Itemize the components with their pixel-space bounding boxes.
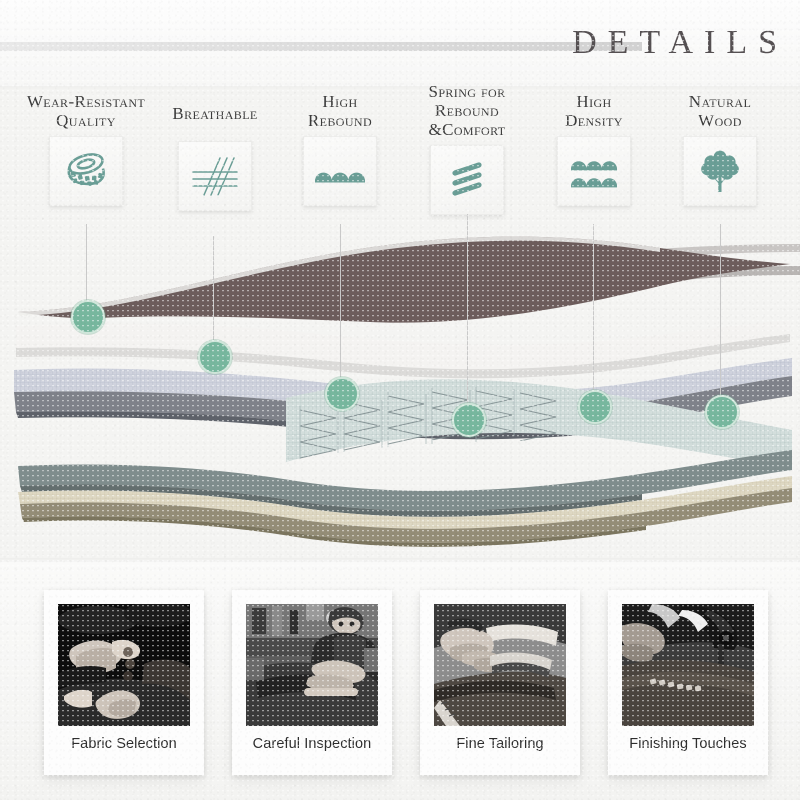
feature-label: High Density: [524, 92, 664, 130]
foam-arcs-icon: [314, 158, 366, 184]
process-card-fine-tailoring[interactable]: Fine Tailoring: [420, 590, 580, 775]
process-card-row: Fabric Selection: [0, 560, 800, 800]
callout-dot-1[interactable]: [71, 300, 105, 334]
feature-label: Spring for Rebound &Comfort: [397, 82, 537, 139]
feature-item-natural-wood[interactable]: Natural Wood: [650, 92, 790, 206]
feature-item-spring-rebound-comfort[interactable]: Spring for Rebound &Comfort: [397, 82, 537, 215]
callout-dot-2[interactable]: [198, 340, 232, 374]
fabric-roll-icon: [63, 150, 109, 192]
woven-mesh-icon: [190, 154, 240, 198]
process-card-careful-inspection[interactable]: Careful Inspection: [232, 590, 392, 775]
feature-item-wear-resistant-quality[interactable]: Wear-Resistant Quality: [16, 92, 156, 206]
callout-dot-4[interactable]: [452, 403, 486, 437]
feature-item-high-density[interactable]: High Density: [524, 92, 664, 206]
page-header: DETAILS: [0, 0, 800, 88]
feature-label: Natural Wood: [650, 92, 790, 130]
infographic-page: DETAILS Wear-Resistant Quality: [0, 0, 800, 800]
worker-inspecting-photo: [246, 604, 378, 726]
spring-bars-icon: [447, 158, 487, 202]
callout-dot-5[interactable]: [578, 390, 612, 424]
feature-strip: Wear-Resistant Quality: [0, 88, 800, 233]
connector-line-4: [467, 214, 468, 411]
connector-line-2: [213, 236, 214, 348]
hands-selecting-leather-photo: [58, 604, 190, 726]
feature-label: Breathable: [145, 104, 285, 123]
feature-icon-box[interactable]: [49, 136, 123, 206]
feature-icon-box[interactable]: [557, 136, 631, 206]
feature-icon-box[interactable]: [683, 136, 757, 206]
sewing-machine-photo: [622, 604, 754, 726]
callout-dot-6[interactable]: [705, 395, 739, 429]
connector-line-3: [340, 224, 341, 385]
process-card-caption: Fine Tailoring: [420, 736, 580, 752]
feature-item-high-rebound[interactable]: High Rebound: [270, 92, 410, 206]
callout-dot-3[interactable]: [325, 377, 359, 411]
feature-icon-box[interactable]: [430, 145, 504, 215]
process-card-fabric-selection[interactable]: Fabric Selection: [44, 590, 204, 775]
process-card-caption: Fabric Selection: [44, 736, 204, 752]
layer-quilted-foam: [16, 320, 790, 369]
feature-item-breathable[interactable]: Breathable: [145, 104, 285, 211]
density-arcs-icon: [569, 151, 619, 191]
process-card-caption: Finishing Touches: [608, 736, 768, 752]
feature-label: High Rebound: [270, 92, 410, 130]
feature-icon-box[interactable]: [303, 136, 377, 206]
feature-icon-box[interactable]: [178, 141, 252, 211]
connector-line-1: [86, 224, 87, 308]
mattress-cross-section-diagram: [0, 230, 800, 560]
page-title: DETAILS: [572, 24, 788, 62]
connector-line-5: [593, 224, 594, 398]
process-card-finishing-touches[interactable]: Finishing Touches: [608, 590, 768, 775]
connector-line-6: [720, 224, 721, 403]
tree-icon: [699, 148, 741, 194]
feature-label: Wear-Resistant Quality: [16, 92, 156, 130]
header-rule: [0, 42, 642, 51]
hand-cutting-leather-photo: [434, 604, 566, 726]
process-card-caption: Careful Inspection: [232, 736, 392, 752]
